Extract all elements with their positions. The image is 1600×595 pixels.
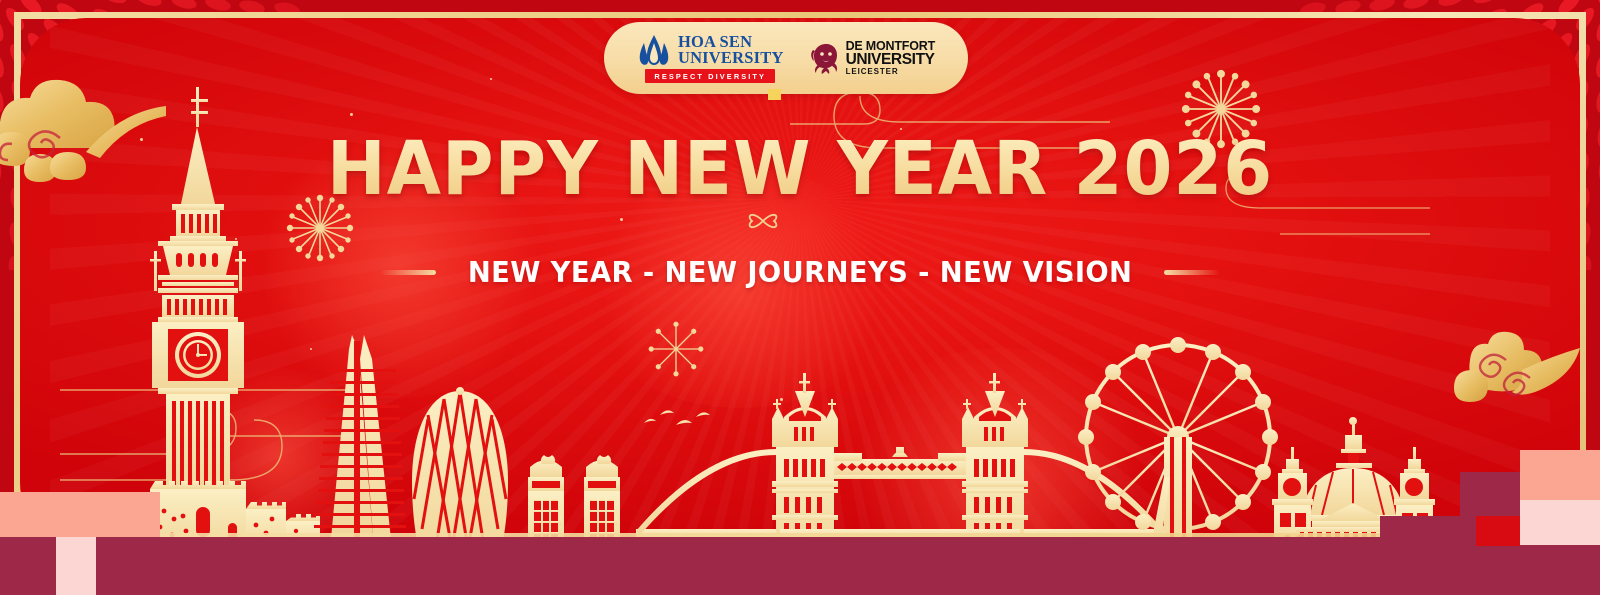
page-title: HAPPY NEW YEAR 2026	[40, 126, 1560, 212]
new-year-banner: HAPPY NEW YEAR 2026 NEW YEAR - NEW JOURN…	[0, 0, 1600, 595]
dash-right	[1164, 270, 1220, 275]
hoa-sen-line2: UNIVERSITY	[678, 50, 784, 67]
block-maroon-r2	[1380, 516, 1476, 556]
petal	[1555, 0, 1582, 17]
petal	[135, 0, 163, 8]
petal	[1506, 0, 1535, 2]
dash-left	[380, 270, 436, 275]
london-skyline	[0, 29, 1600, 549]
petal	[1402, 0, 1430, 11]
block-salmon-left	[0, 492, 160, 538]
de-montfort-line2: UNIVERSITY	[846, 52, 935, 68]
the-shard-shape	[313, 335, 407, 549]
petal	[1437, 0, 1465, 8]
block-red-r	[1476, 516, 1520, 546]
pill-accent-tab	[768, 89, 781, 100]
block-pink-br	[1520, 500, 1600, 545]
block-pink-bl	[56, 537, 96, 595]
petal	[100, 0, 129, 6]
petal	[0, 0, 5, 6]
block-maroon-r1	[1460, 472, 1520, 516]
petal	[1471, 0, 1500, 6]
petal	[1595, 0, 1600, 6]
petal	[169, 0, 197, 11]
page-subtitle: NEW YEAR - NEW JOURNEYS - NEW VISION	[468, 256, 1132, 289]
hoa-sen-tagline: RESPECT DIVERSITY	[645, 69, 775, 83]
logo-bar: HOA SEN UNIVERSITY RESPECT DIVERSITY	[604, 22, 968, 94]
tower-bridge-shape	[636, 373, 1164, 549]
block-salmon-tr	[1520, 450, 1600, 500]
petal	[18, 0, 45, 17]
petal	[65, 0, 94, 2]
hoa-sen-university-logo[interactable]: HOA SEN UNIVERSITY RESPECT DIVERSITY	[637, 33, 784, 83]
subtitle-row: NEW YEAR - NEW JOURNEYS - NEW VISION	[0, 256, 1600, 289]
lion-head-icon	[810, 41, 840, 75]
block-maroon-bl	[0, 537, 56, 595]
the-gherkin-shape	[412, 387, 508, 549]
de-montfort-line3: LEICESTER	[846, 68, 935, 76]
london-eye-shape	[1078, 337, 1278, 549]
auspicious-cloud-right	[1436, 330, 1586, 422]
auspicious-cloud-top-left	[0, 74, 170, 184]
lotus-flame-icon	[637, 33, 671, 67]
bottom-bar	[0, 537, 1600, 595]
de-montfort-university-logo[interactable]: DE MONTFORT UNIVERSITY LEICESTER	[810, 40, 935, 77]
